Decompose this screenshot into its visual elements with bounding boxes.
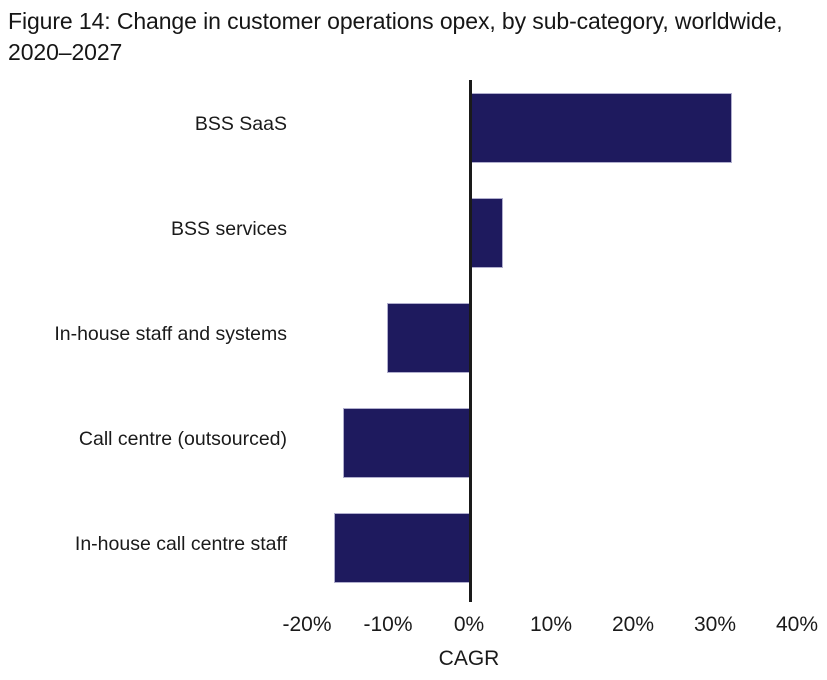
bar-call-centre-outsourced[interactable] xyxy=(343,408,470,478)
bar-row: BSS services xyxy=(0,185,827,290)
x-tick-label: 20% xyxy=(588,612,678,638)
category-label-bss-services: BSS services xyxy=(171,217,287,241)
x-tick-label: -20% xyxy=(262,612,352,638)
x-tick-label: -10% xyxy=(343,612,433,638)
bar-row: BSS SaaS xyxy=(0,80,827,185)
x-tick-label: 40% xyxy=(752,612,827,638)
category-label-bss-saas: BSS SaaS xyxy=(195,112,287,136)
x-axis-title: CAGR xyxy=(369,646,569,672)
bar-in-house-staff-and-systems[interactable] xyxy=(387,303,470,373)
bar-row: In-house call centre staff xyxy=(0,500,827,605)
bar-row: In-house staff and systems xyxy=(0,290,827,395)
category-label-in-house-call-centre-staff: In-house call centre staff xyxy=(75,532,287,556)
bar-chart: BSS SaaS BSS services In-house staff and… xyxy=(0,0,827,680)
bar-bss-saas[interactable] xyxy=(469,93,732,163)
category-label-call-centre-outsourced: Call centre (outsourced) xyxy=(79,427,287,451)
category-label-in-house-staff-and-systems: In-house staff and systems xyxy=(54,322,287,346)
plot-area: BSS SaaS BSS services In-house staff and… xyxy=(0,80,827,603)
x-axis-tick-labels: -20% -10% 0% 10% 20% 30% 40% xyxy=(0,612,827,640)
x-tick-label: 30% xyxy=(670,612,760,638)
bar-bss-services[interactable] xyxy=(469,198,503,268)
x-tick-label: 0% xyxy=(424,612,514,638)
x-tick-label: 10% xyxy=(506,612,596,638)
bar-in-house-call-centre-staff[interactable] xyxy=(334,513,470,583)
bar-row: Call centre (outsourced) xyxy=(0,395,827,500)
zero-axis-line xyxy=(469,80,472,602)
